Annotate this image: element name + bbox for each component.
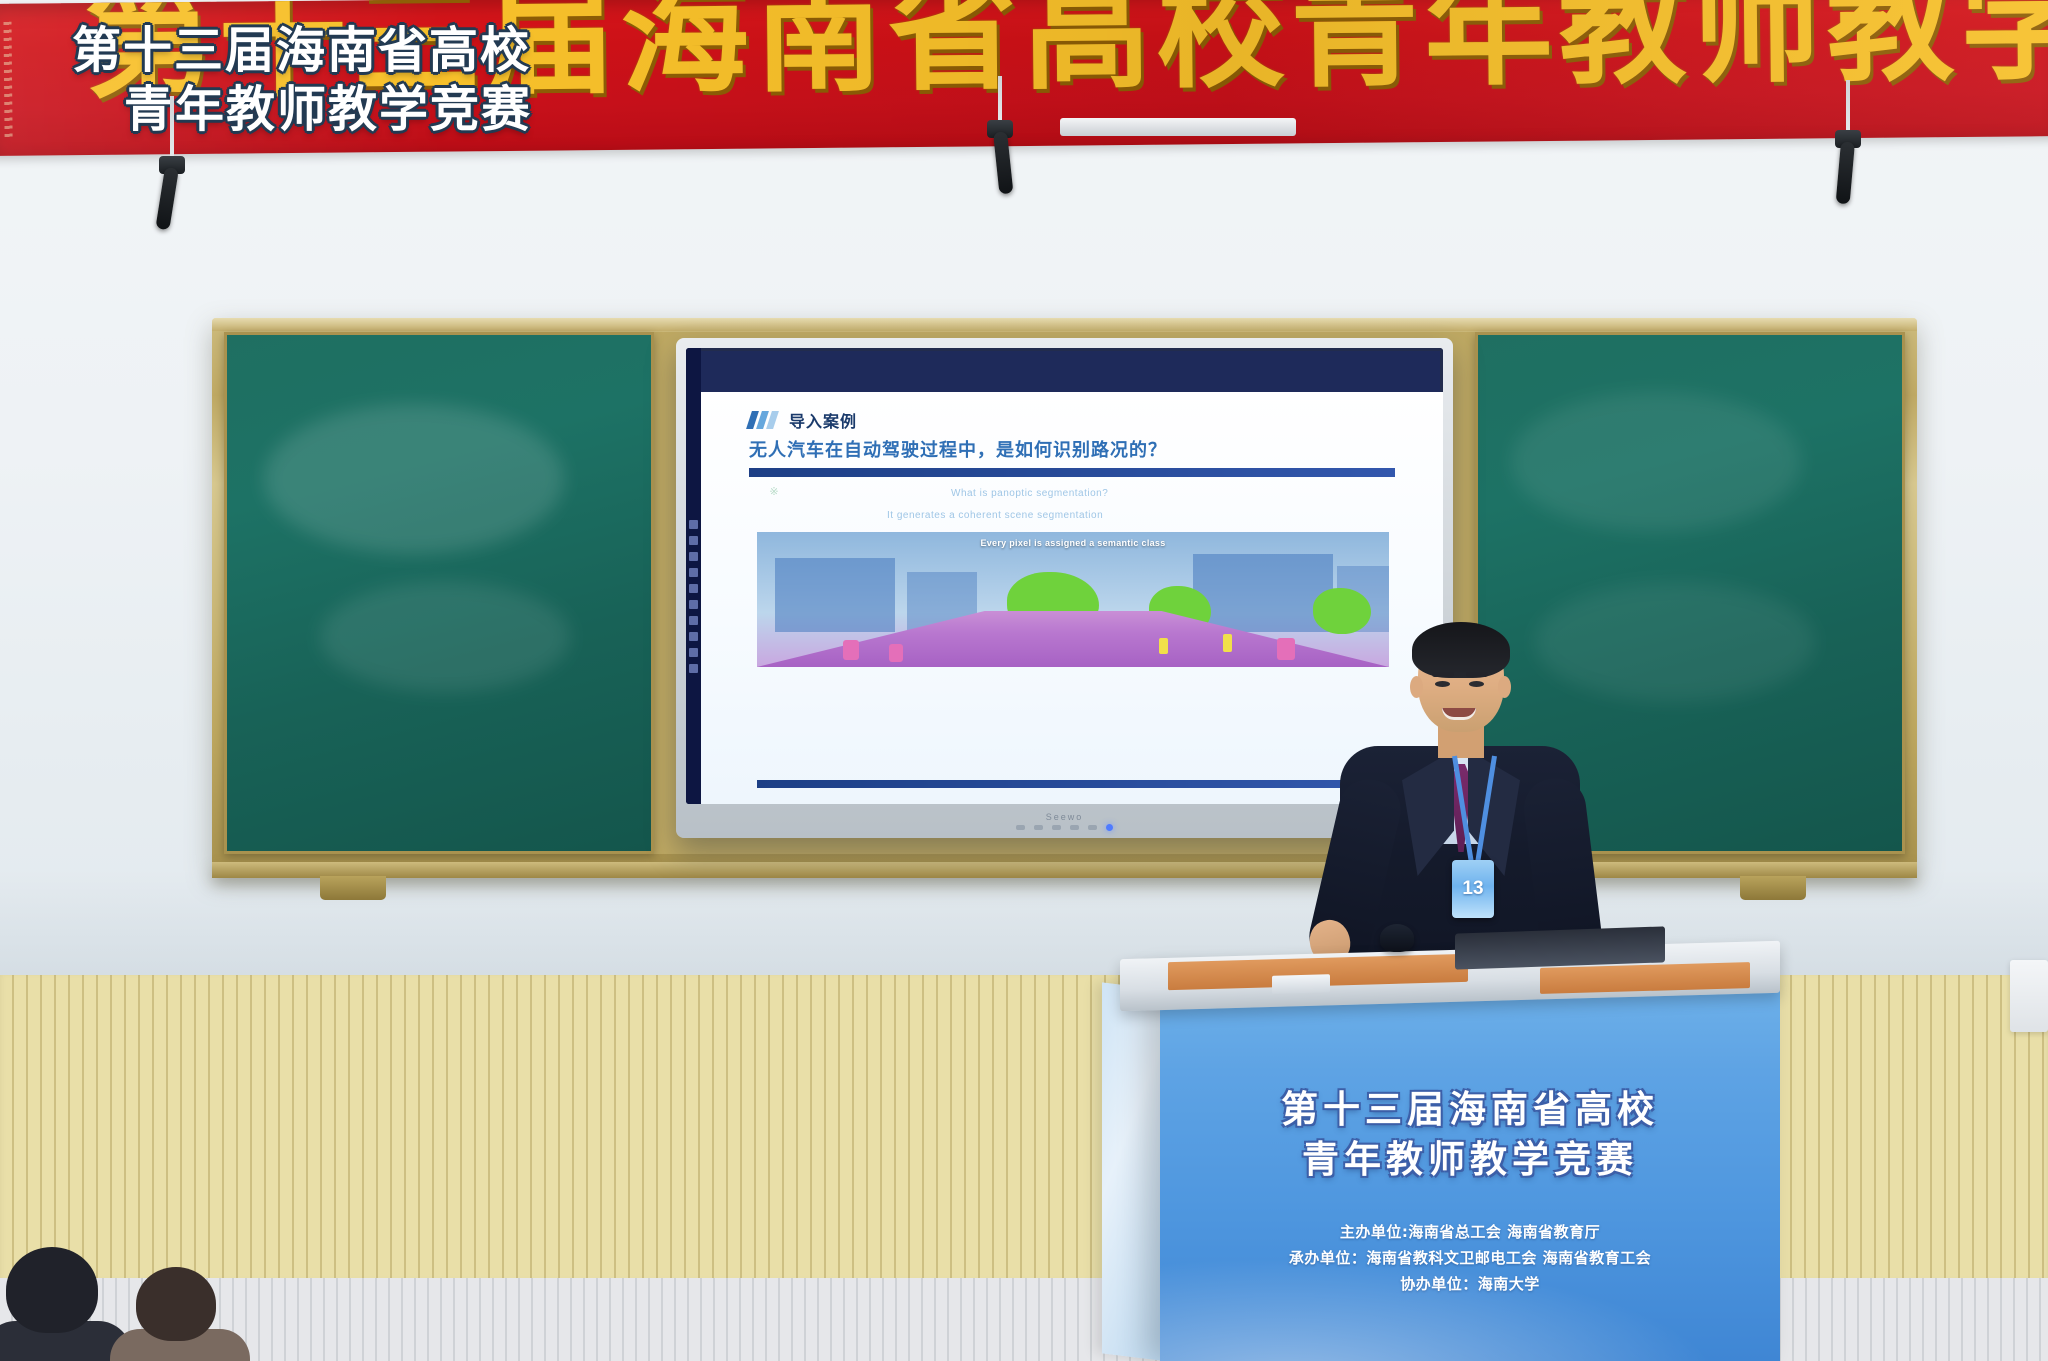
- display-brand-logo: Seewo: [1046, 812, 1084, 822]
- audience-head-second: [118, 1265, 236, 1361]
- classroom-photo: 第十三届海南省高校青年教师教学竞赛 第十三届海南省高校 青年教师教学竞赛: [0, 0, 2048, 1361]
- volume-icon[interactable]: [689, 648, 698, 657]
- display-sidebar-toolbar[interactable]: [686, 348, 701, 804]
- banner-printed-text: 第十三届海南省高校青年教师教学竞赛: [84, 0, 2048, 107]
- organizer-line-1: 主办单位:海南省总工会 海南省教育厅: [1160, 1219, 1780, 1245]
- presenter-id-badge: 13: [1452, 860, 1494, 918]
- settings-icon[interactable]: [689, 632, 698, 641]
- lectern-banner-text: 第十三届海南省高校 青年教师教学竞赛 主办单位:海南省总工会 海南省教育厅 承办…: [1160, 1085, 1780, 1298]
- power-button[interactable]: [1016, 825, 1025, 830]
- badge-number: 13: [1462, 878, 1483, 900]
- presenter-hair: [1412, 622, 1510, 678]
- segmentation-caption: Every pixel is assigned a semantic class: [757, 538, 1389, 548]
- home-icon[interactable]: [689, 552, 698, 561]
- audience-head: [136, 1267, 216, 1341]
- vol-down-button[interactable]: [1070, 825, 1079, 830]
- interactive-smart-display[interactable]: 导入案例 无人汽车在自动驾驶过程中，是如何识别路况的？ ※ What is pa…: [676, 338, 1453, 838]
- power-icon[interactable]: [689, 664, 698, 673]
- lectern-front-panel: 第十三届海南省高校 青年教师教学竞赛 主办单位:海南省总工会 海南省教育厅 承办…: [1160, 975, 1780, 1361]
- organizer-line-2: 承办单位：海南省教科文卫邮电工会 海南省教育工会: [1160, 1245, 1780, 1271]
- wall-outlet-box: [2010, 960, 2048, 1032]
- lectern-title-line1: 第十三届海南省高校: [1160, 1085, 1780, 1135]
- ceiling-track-bar: [1060, 118, 1296, 136]
- slide-kicker-text: 导入案例: [789, 408, 857, 432]
- apps-icon[interactable]: [689, 568, 698, 577]
- slide-kicker-group: 导入案例: [749, 408, 857, 432]
- ledge-bracket: [320, 876, 386, 900]
- display-button-row[interactable]: [1016, 824, 1113, 831]
- presenter-eye-left: [1435, 681, 1450, 687]
- lectern-microphone: [1380, 924, 1414, 952]
- led-indicator: [1106, 824, 1113, 831]
- lectern-organizers: 主办单位:海南省总工会 海南省教育厅 承办单位：海南省教科文卫邮电工会 海南省教…: [1160, 1219, 1780, 1298]
- slide-english-line-1: What is panoptic segmentation?: [951, 488, 1108, 499]
- lectern-control-pad[interactable]: [1272, 974, 1330, 994]
- menu-icon[interactable]: [689, 520, 698, 529]
- display-screen[interactable]: 导入案例 无人汽车在自动驾驶过程中，是如何识别路况的？ ※ What is pa…: [686, 348, 1443, 804]
- presenter-ear-left: [1410, 676, 1423, 698]
- presenter-eye-right: [1469, 681, 1484, 687]
- lectern-side-panel: [1102, 982, 1164, 1361]
- lectern-title-line2: 青年教师教学竞赛: [1160, 1135, 1780, 1185]
- banner-edge-texture: [3, 22, 12, 140]
- chalkboard-left-panel: [224, 332, 654, 854]
- slide-english-line-2: It generates a coherent scene segmentati…: [887, 510, 1103, 521]
- presenter-brow-left: [1432, 672, 1454, 677]
- slide-footer-rule: [757, 780, 1389, 788]
- lectern-laptop[interactable]: [1455, 926, 1665, 969]
- slide-divider-rule: [749, 468, 1395, 477]
- event-banner: 第十三届海南省高校青年教师教学竞赛: [0, 0, 2048, 156]
- back-icon[interactable]: [689, 536, 698, 545]
- vol-up-button[interactable]: [1088, 825, 1097, 830]
- slide-question-text: 无人汽车在自动驾驶过程中，是如何识别路况的？: [749, 436, 1167, 462]
- presenter-brow-right: [1466, 672, 1488, 677]
- audience-head: [6, 1247, 98, 1333]
- slash-decoration-icon: [746, 411, 779, 429]
- presenter-ear-right: [1498, 676, 1511, 698]
- audience-head-left: [0, 1241, 112, 1361]
- screenshot-icon[interactable]: [689, 616, 698, 625]
- slide-quote-mark: ※: [763, 486, 785, 520]
- organizer-line-3: 协办单位：海南大学: [1160, 1271, 1780, 1297]
- pen-icon[interactable]: [689, 584, 698, 593]
- eraser-icon[interactable]: [689, 600, 698, 609]
- segmentation-example-image: Every pixel is assigned a semantic class: [757, 532, 1389, 667]
- source-button[interactable]: [1034, 825, 1043, 830]
- ledge-bracket: [1740, 876, 1806, 900]
- presentation-slide: 导入案例 无人汽车在自动驾驶过程中，是如何识别路况的？ ※ What is pa…: [701, 392, 1443, 804]
- chalkboard-ledge: [212, 862, 1917, 878]
- menu-button[interactable]: [1052, 825, 1061, 830]
